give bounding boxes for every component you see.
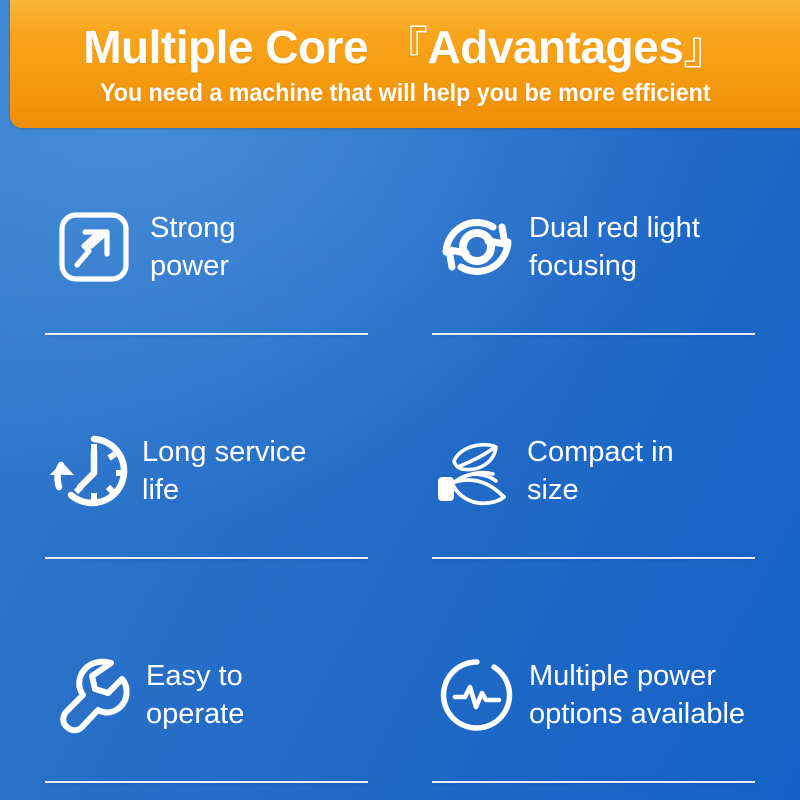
feature-label: Long service life	[142, 433, 306, 510]
feature-label-line1: Long service	[142, 433, 306, 471]
bracket-close-glyph: 』	[683, 24, 727, 73]
feature-grid: Strong power Dual red light	[0, 128, 800, 800]
feature-label-line2: power	[150, 247, 235, 285]
feature-item-strong-power: Strong power	[44, 128, 369, 352]
header-banner: Multiple Core『Advantages』 You need a mac…	[10, 0, 800, 128]
feature-item-dual-red-light-focusing: Dual red light focusing	[431, 128, 756, 352]
feature-label-line2: options available	[529, 695, 745, 733]
feature-label-line1: Easy to	[146, 657, 244, 695]
feature-label: Compact in size	[527, 433, 674, 510]
page-title: Multiple Core『Advantages』	[83, 24, 727, 71]
pulse-circle-icon	[431, 649, 523, 741]
feature-label-line2: life	[142, 471, 306, 509]
feature-label-line1: Dual red light	[529, 209, 700, 247]
page-subtitle: You need a machine that will help you be…	[100, 81, 711, 106]
clock-history-icon	[44, 425, 136, 517]
feature-label-line1: Strong	[150, 209, 235, 247]
feature-item-multiple-power-options: Multiple power options available	[431, 576, 756, 800]
feature-label: Easy to operate	[146, 657, 244, 734]
feature-label-line1: Compact in	[527, 433, 674, 471]
feature-label: Dual red light focusing	[529, 209, 700, 286]
title-main-text: Multiple Core	[83, 21, 368, 73]
lightning-arrow-in-rounded-square-icon	[48, 201, 140, 293]
feature-item-long-service-life: Long service life	[44, 352, 369, 576]
title-highlight-text: Advantages	[428, 21, 684, 73]
feature-label-line2: size	[527, 471, 674, 509]
feature-label-line2: focusing	[529, 247, 700, 285]
dual-focus-rotation-icon	[431, 201, 523, 293]
feature-label-line1: Multiple power	[529, 657, 745, 695]
hand-holding-leaf-icon	[431, 425, 523, 517]
advantages-infographic: Multiple Core『Advantages』 You need a mac…	[0, 0, 800, 800]
feature-item-easy-to-operate: Easy to operate	[44, 576, 369, 800]
bracket-open-glyph: 『	[384, 24, 428, 73]
feature-label: Multiple power options available	[529, 657, 745, 734]
wrench-icon	[46, 649, 138, 741]
feature-label: Strong power	[150, 209, 235, 286]
feature-item-compact-in-size: Compact in size	[431, 352, 756, 576]
feature-label-line2: operate	[146, 695, 244, 733]
